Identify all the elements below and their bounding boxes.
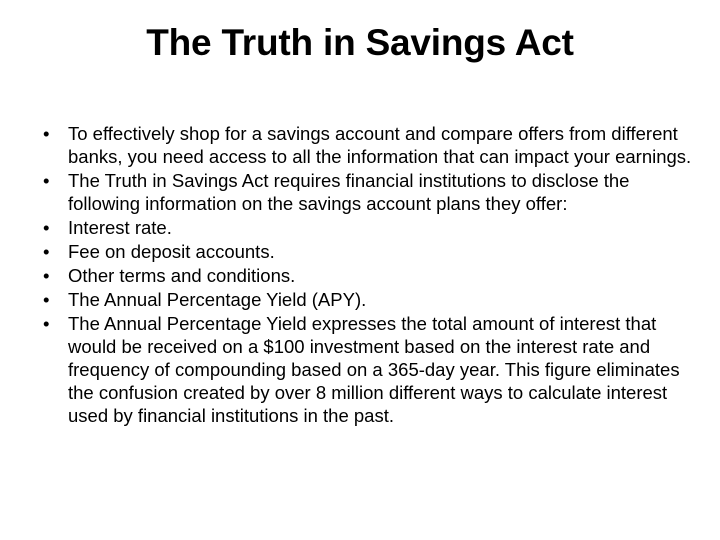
- page-title: The Truth in Savings Act: [146, 22, 574, 64]
- list-item: • To effectively shop for a savings acco…: [38, 122, 698, 168]
- bullet-dot-icon: •: [43, 288, 55, 311]
- list-item: • The Truth in Savings Act requires fina…: [38, 169, 698, 215]
- bullet-dot-icon: •: [43, 312, 55, 335]
- list-item-text: Other terms and conditions.: [68, 264, 698, 287]
- list-item: • The Annual Percentage Yield (APY).: [38, 288, 698, 311]
- bullet-list: • To effectively shop for a savings acco…: [38, 122, 698, 427]
- bullet-dot-icon: •: [43, 122, 55, 145]
- list-item: • Interest rate.: [38, 216, 698, 239]
- slide-body-area: • To effectively shop for a savings acco…: [38, 122, 698, 428]
- list-item: • Other terms and conditions.: [38, 264, 698, 287]
- bullet-dot-icon: •: [43, 264, 55, 287]
- bullet-dot-icon: •: [43, 169, 55, 192]
- list-item-text: To effectively shop for a savings accoun…: [68, 122, 698, 168]
- list-item: • The Annual Percentage Yield expresses …: [38, 312, 698, 427]
- list-item-text: The Annual Percentage Yield (APY).: [68, 288, 698, 311]
- slide-canvas: The Truth in Savings Act • To effectivel…: [0, 0, 720, 540]
- list-item-text: Fee on deposit accounts.: [68, 240, 698, 263]
- slide-title-area: The Truth in Savings Act: [0, 22, 720, 64]
- list-item-text: The Truth in Savings Act requires financ…: [68, 169, 698, 215]
- list-item-text: The Annual Percentage Yield expresses th…: [68, 312, 698, 427]
- bullet-dot-icon: •: [43, 216, 55, 239]
- bullet-dot-icon: •: [43, 240, 55, 263]
- list-item: • Fee on deposit accounts.: [38, 240, 698, 263]
- list-item-text: Interest rate.: [68, 216, 698, 239]
